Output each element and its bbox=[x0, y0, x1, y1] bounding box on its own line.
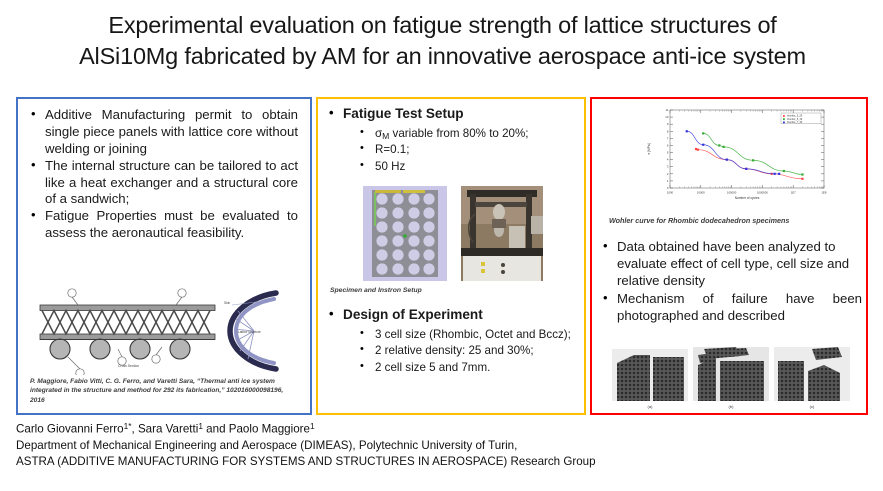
list-item: 2 relative density: 25 and 30%; bbox=[359, 343, 578, 359]
section-heading: Design of Experiment bbox=[326, 307, 578, 324]
x-tick-label: 100000 bbox=[727, 191, 737, 195]
title-line-1: Experimental evaluation on fatigue stren… bbox=[40, 10, 845, 41]
data-point-rhombic_7_30 bbox=[778, 173, 780, 175]
affiliation-line-1: Department of Mechanical Engineering and… bbox=[16, 438, 736, 454]
right-panel: 10001000010000010000001E71E8012345678910… bbox=[590, 97, 868, 415]
list-item: σM variable from 80% to 20%; bbox=[359, 126, 576, 142]
list-item: 50 Hz bbox=[359, 159, 576, 175]
fatigue-setup-heading-list: Fatigue Test Setup bbox=[326, 106, 576, 123]
fracture-photo-c: (c) bbox=[774, 347, 850, 409]
y-tick-label: 3 bbox=[667, 165, 669, 169]
x-axis-label: Number of cycles bbox=[735, 196, 760, 200]
list-item: Additive Manufacturing permit to obtain … bbox=[28, 107, 298, 158]
photo-label-a: (a) bbox=[648, 404, 654, 409]
author-1: Carlo Giovanni Ferro bbox=[16, 423, 124, 436]
author-1-sup: 1* bbox=[124, 421, 132, 431]
y-tick-label: 10 bbox=[665, 115, 669, 119]
legend-entry-rhombic_7_30: rhombic_7_30 bbox=[787, 121, 803, 124]
figure-label-lattice: Lattice structure bbox=[238, 330, 261, 334]
author-3: and Paolo Maggiore bbox=[203, 423, 310, 436]
x-tick-label: 1E7 bbox=[791, 191, 796, 195]
specimen-lattice bbox=[372, 190, 438, 277]
fracture-photo-a: (a) bbox=[612, 349, 688, 409]
specimen-figure-caption: Specimen and Instron Setup bbox=[330, 287, 422, 294]
fracture-photo-b: (b) bbox=[693, 347, 769, 409]
fatigue-setup-items: σM variable from 80% to 20%; R=0.1; 50 H… bbox=[326, 126, 576, 175]
author-line: Carlo Giovanni Ferro1*, Sara Varetti1 an… bbox=[16, 421, 736, 438]
data-point-rhombic_7_30 bbox=[726, 159, 728, 161]
data-point-rhombic_5_30 bbox=[801, 173, 803, 175]
chart-caption: Wohler curve for Rhombic dodecahedron sp… bbox=[609, 216, 789, 225]
design-of-experiment-section: Design of Experiment 3 cell size (Rhombi… bbox=[326, 307, 578, 376]
y-tick-label: 2 bbox=[667, 172, 669, 176]
data-point-rhombic_5_30 bbox=[702, 132, 704, 134]
sandwich-panel-diagram: Cross Section Skin Lattice structure bbox=[34, 287, 296, 375]
figure-label-cross-section: Cross Section bbox=[118, 364, 139, 368]
left-panel: Additive Manufacturing permit to obtain … bbox=[16, 97, 312, 415]
fatigue-test-setup-section: Fatigue Test Setup σM variable from 80% … bbox=[326, 106, 576, 175]
data-point-rhombic_7_30 bbox=[774, 173, 776, 175]
doe-items: 3 cell size (Rhombic, Octet and Bccz); 2… bbox=[326, 327, 578, 376]
affiliation-line-2: ASTRA (ADDITIVE MANUFACTURING FOR SYSTEM… bbox=[16, 454, 736, 470]
data-point-rhombic_5_30 bbox=[723, 146, 725, 148]
list-item: Data obtained have been analyzed to eval… bbox=[600, 239, 862, 290]
data-point-rhombic_7_30 bbox=[686, 130, 688, 132]
data-point-rhombic_7_30 bbox=[745, 168, 747, 170]
list-item: Mechanism of failure have been photograp… bbox=[600, 291, 862, 325]
specimen-instron-images bbox=[363, 186, 573, 281]
y-tick-label: 9 bbox=[667, 122, 669, 126]
data-point-rhombic_5_30 bbox=[783, 170, 785, 172]
slide-root: Experimental evaluation on fatigue stren… bbox=[0, 0, 883, 491]
author-affiliation-footer: Carlo Giovanni Ferro1*, Sara Varetti1 an… bbox=[16, 421, 736, 471]
x-tick-label: 1000000 bbox=[757, 191, 768, 195]
specimen-instron-figures bbox=[363, 186, 573, 281]
x-tick-label: 10000 bbox=[697, 191, 705, 195]
y-tick-label: 11 bbox=[665, 108, 668, 112]
sigma-text: variable from 80% to 20%; bbox=[389, 127, 528, 140]
fracture-photos-svg: (a) (b) (c) bbox=[612, 347, 852, 409]
left-panel-citation: P. Maggiore, Fabio Vitti, C. G. Ferro, a… bbox=[30, 377, 292, 405]
data-point-rhombic_5_30 bbox=[752, 159, 754, 161]
author-3-sup: 1 bbox=[310, 421, 315, 431]
list-item: 3 cell size (Rhombic, Octet and Bccz); bbox=[359, 327, 578, 343]
data-point-rhombic_5_25 bbox=[801, 178, 803, 180]
y-tick-label: 0 bbox=[667, 186, 669, 190]
data-point-rhombic_5_30 bbox=[718, 144, 720, 146]
list-item: Fatigue Properties must be evaluated to … bbox=[28, 208, 298, 242]
page-title: Experimental evaluation on fatigue stren… bbox=[40, 10, 845, 72]
y-axis-label: σ [MPa] bbox=[647, 143, 651, 154]
y-tick-label: 7 bbox=[667, 136, 669, 140]
list-item: R=0.1; bbox=[359, 142, 576, 158]
y-tick-label: 8 bbox=[667, 129, 669, 133]
y-tick-label: 6 bbox=[667, 143, 669, 147]
instron-machine-photo bbox=[461, 186, 543, 281]
photo-label-b: (b) bbox=[729, 404, 735, 409]
photo-label-c: (c) bbox=[810, 404, 815, 409]
data-point-rhombic_5_25 bbox=[697, 149, 699, 151]
figure-label-skin: Skin bbox=[224, 301, 230, 305]
y-tick-label: 1 bbox=[667, 179, 669, 183]
author-2: , Sara Varetti bbox=[132, 423, 199, 436]
x-tick-label: 1E8 bbox=[822, 191, 827, 195]
wohler-curve-chart: 10001000010000010000001E71E8012345678910… bbox=[640, 104, 830, 212]
left-panel-bullet-list: Additive Manufacturing permit to obtain … bbox=[28, 107, 298, 242]
right-panel-bullet-list: Data obtained have been analyzed to eval… bbox=[600, 239, 862, 325]
wohler-chart-svg: 10001000010000010000001E71E8012345678910… bbox=[640, 104, 830, 212]
middle-panel: Fatigue Test Setup σM variable from 80% … bbox=[316, 97, 586, 415]
fracture-photographs: (a) (b) (c) bbox=[612, 347, 852, 409]
y-tick-label: 4 bbox=[667, 158, 669, 162]
sandwich-panel-figure: Cross Section Skin Lattice structure bbox=[34, 287, 296, 375]
x-tick-label: 1000 bbox=[667, 191, 674, 195]
y-tick-label: 5 bbox=[667, 151, 669, 155]
section-heading: Fatigue Test Setup bbox=[326, 106, 576, 123]
list-item: 2 cell size 5 and 7mm. bbox=[359, 360, 578, 376]
doe-heading-list: Design of Experiment bbox=[326, 307, 578, 324]
title-line-2: AlSi10Mg fabricated by AM for an innovat… bbox=[40, 41, 845, 72]
list-item: The internal structure can be tailored t… bbox=[28, 158, 298, 209]
data-point-rhombic_7_30 bbox=[702, 144, 704, 146]
